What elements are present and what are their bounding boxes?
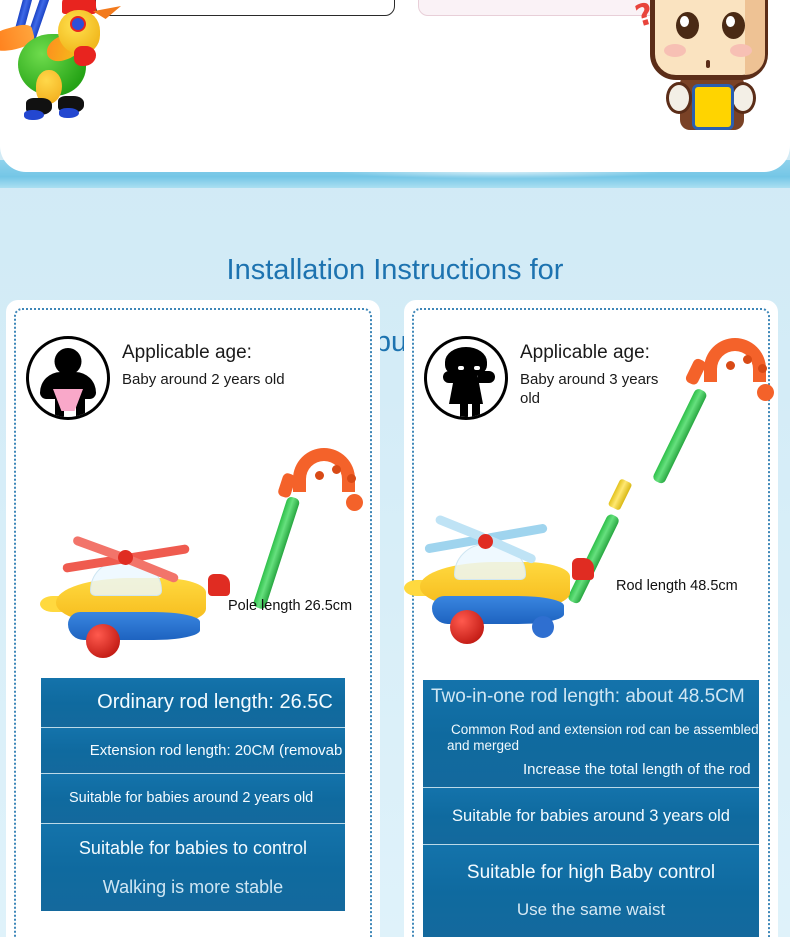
mascot-eye-right <box>722 12 745 39</box>
handle-knob-right <box>757 384 774 401</box>
spec-row-right-0-header: Two-in-one rod length: about 48.5CM <box>431 686 759 708</box>
handle-dot-r3 <box>758 364 767 373</box>
spec-row-right-2-sub: Use the same waist <box>517 900 665 920</box>
baby-icon <box>26 336 110 420</box>
mascot-cheek-right <box>730 44 752 57</box>
mascot-head <box>650 0 768 80</box>
spec-row-left-2-text: Suitable for babies around 2 years old <box>69 790 313 807</box>
spec-row-right-0-line3: Increase the total length of the rod <box>523 761 759 779</box>
rooster-push-toy-image <box>0 0 126 120</box>
handle-dot-r2 <box>743 355 752 364</box>
spec-row-right-2-text: Suitable for high Baby control <box>467 862 715 884</box>
push-handle-left <box>293 448 355 492</box>
toy-wheel-right-rear <box>532 616 554 638</box>
handle-knob-left <box>346 494 363 511</box>
handle-dot-1 <box>315 471 324 480</box>
spec-row-left-1: Extension rod length: 20CM (removab <box>41 728 345 774</box>
rooster-beak-icon <box>93 6 121 19</box>
spec-row-right-1: Suitable for babies around 3 years old <box>423 788 759 845</box>
baby-head-shape <box>55 348 82 375</box>
spec-row-left-2: Suitable for babies around 2 years old <box>41 774 345 824</box>
spec-row-left-0-text: Ordinary rod length: 26.5C <box>97 691 333 714</box>
spec-table-left: Ordinary rod length: 26.5C Extension rod… <box>41 678 345 911</box>
spec-row-right-0-line2b: and merged <box>447 738 759 753</box>
spec-row-right-0-line2: Common Rod and extension rod can be asse… <box>451 722 759 738</box>
rooster-wheel-left <box>24 110 44 120</box>
handle-dot-2 <box>332 465 341 474</box>
toy-image-right: Rod length 48.5cm <box>414 330 774 650</box>
page-title-line1: Installation Instructions for <box>227 254 564 286</box>
spec-row-left-3-text: Suitable for babies to control <box>79 838 307 859</box>
toy-plane-left <box>56 544 226 640</box>
rod-length-label-right: Rod length 48.5cm <box>616 578 738 594</box>
rooster-wattle-icon <box>74 46 96 66</box>
mascot-arm-left <box>666 82 692 114</box>
age-header-left: Applicable age: Baby around 2 years old <box>26 336 285 420</box>
rooster-eye-icon <box>70 16 86 32</box>
age-label-left: Applicable age: <box>122 340 285 365</box>
toy-wheel-left <box>86 624 120 658</box>
child-eye-left <box>458 366 464 370</box>
mascot-cheek-left <box>664 44 686 57</box>
spec-row-left-1-text: Extension rod length: 20CM (removab <box>90 742 343 759</box>
spec-row-left-3: Suitable for babies to control Walking i… <box>41 824 345 911</box>
push-rod-left <box>252 496 300 610</box>
toy-image-left: Pole length 26.5cm <box>28 440 368 640</box>
toy-wheel-right-front <box>450 610 484 644</box>
toy-plane-right <box>420 528 590 628</box>
spec-row-right-1-text: Suitable for babies around 3 years old <box>452 807 730 826</box>
spec-table-right: Two-in-one rod length: about 48.5CM Comm… <box>423 680 759 937</box>
handle-dot-3 <box>347 474 356 483</box>
rotor-hub-right <box>478 534 493 549</box>
wave-highlight <box>330 163 670 179</box>
top-product-card: ? ? <box>0 0 790 172</box>
child-eye-right <box>474 366 480 370</box>
plane-tail-right <box>572 558 594 580</box>
rooster-wheel-right <box>59 108 79 118</box>
pole-length-label-left: Pole length 26.5cm <box>228 598 352 614</box>
spec-row-right-0: Two-in-one rod length: about 48.5CM Comm… <box>423 680 759 788</box>
top-info-box-left[interactable] <box>95 0 395 16</box>
age-value-left: Baby around 2 years old <box>122 370 285 389</box>
spec-row-right-2: Suitable for high Baby control Use the s… <box>423 845 759 937</box>
mascot-bib <box>692 84 734 130</box>
push-rod-upper-right <box>652 387 708 484</box>
rotor-hub-left <box>118 550 133 565</box>
mascot-eye-left <box>676 12 699 39</box>
plane-tail-left <box>208 574 230 596</box>
handle-dot-r1 <box>726 361 735 370</box>
spec-row-left-0: Ordinary rod length: 26.5C <box>41 678 345 728</box>
toast-mascot-image: ? ? <box>634 0 784 118</box>
push-handle-right <box>704 338 766 382</box>
age-text-block-left: Applicable age: Baby around 2 years old <box>122 336 285 389</box>
mascot-mouth <box>706 60 710 68</box>
spec-row-left-3-sub: Walking is more stable <box>103 877 283 898</box>
rod-yellow-joint <box>608 478 633 511</box>
